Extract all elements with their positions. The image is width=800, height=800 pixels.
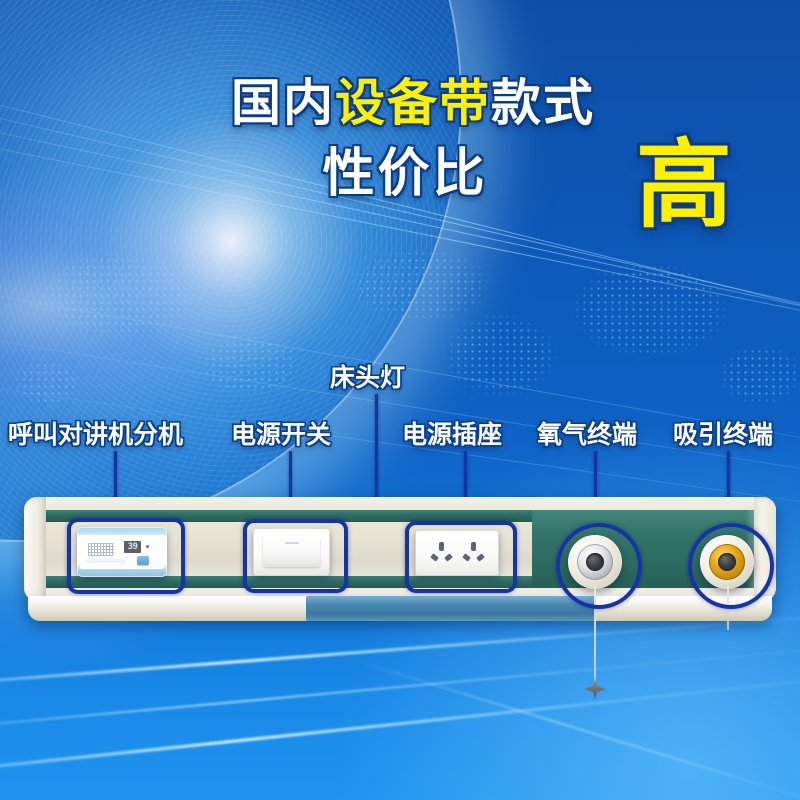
headline-line1-highlight: 设备带: [335, 75, 491, 131]
headline-line1-part3: 款式: [491, 75, 595, 131]
highlight-circle-suction: [688, 523, 774, 609]
callout-label-oxygen-terminal: 氧气终端: [537, 415, 637, 451]
headline-line2-text: 性价比: [322, 145, 487, 203]
panel-rail-blue-segment: [306, 596, 596, 621]
highlight-box-nurse-call: [67, 518, 185, 594]
promo-image-canvas: 国内设备带款式 性价比 高 呼叫对讲机分机 电源开关 床头灯 电源插座 氧气终端…: [0, 0, 800, 800]
headline-line1-part1: 国内: [231, 75, 335, 131]
callout-label-bed-lamp: 床头灯: [330, 358, 405, 394]
callout-label-power-socket: 电源插座: [402, 415, 502, 451]
highlight-box-power-socket: [405, 521, 517, 593]
callout-label-suction-terminal: 吸引终端: [673, 415, 773, 451]
headline-emphasis-character: 高: [636, 138, 732, 234]
panel-end-cap-left: [24, 497, 46, 601]
highlight-box-power-switch: [243, 519, 348, 593]
highlight-circle-oxygen: [556, 523, 642, 609]
callout-label-nurse-call: 呼叫对讲机分机: [8, 415, 183, 451]
headline-line-1: 国内设备带款式: [0, 78, 800, 128]
callout-label-power-switch: 电源开关: [231, 415, 331, 451]
